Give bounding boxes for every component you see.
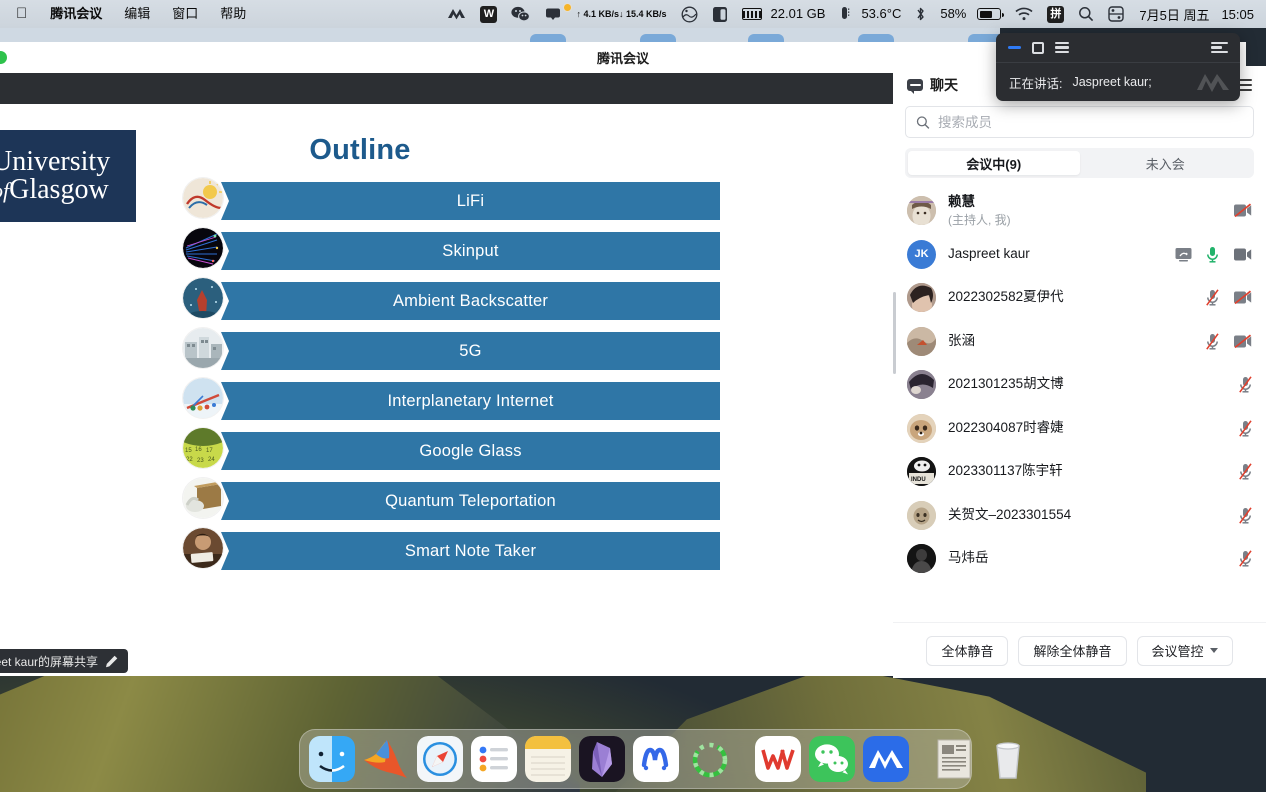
smart-note-taker-thumbnail: [183, 528, 223, 568]
notification-bell-icon[interactable]: [537, 6, 569, 22]
outline-item-label: Skinput: [221, 232, 720, 270]
participant-name: 关贺文–2023301554: [948, 507, 1071, 524]
google-glass-thumbnail: 151617222324: [183, 428, 223, 468]
speaking-name: Jaspreet kaur;: [1072, 75, 1151, 89]
floating-window-toolbar: [996, 33, 1240, 63]
interplanetary-internet-thumbnail: [183, 378, 223, 418]
list-item[interactable]: 关贺文–2023301554: [893, 494, 1266, 538]
participant-controls: [1239, 463, 1252, 480]
participant-controls: [1206, 333, 1252, 350]
tencent-meeting-icon[interactable]: [440, 7, 473, 21]
avatar: INDU: [907, 457, 936, 486]
outline-item-label: Quantum Teleportation: [221, 482, 720, 520]
svg-text:INDU: INDU: [911, 477, 926, 483]
outline-item[interactable]: 151617222324 Google Glass: [183, 432, 720, 482]
microphone-off-icon[interactable]: [1239, 507, 1252, 524]
participant-name: 2022304087时睿婕: [948, 420, 1064, 437]
memory-usage-value: 22.01 GB: [769, 0, 833, 28]
network-download-speed: ↓ 15.4 KB/s: [619, 0, 667, 28]
dock-item-finder[interactable]: [309, 736, 355, 782]
participant-controls: [1233, 203, 1252, 218]
outline-list: LiFi Skinput Ambient Backscatter 5G Inte: [183, 182, 720, 582]
menubar-time[interactable]: 15:05: [1213, 7, 1258, 22]
wechat-icon[interactable]: [504, 6, 537, 22]
outline-item[interactable]: Quantum Teleportation: [183, 482, 720, 532]
slide-title: Outline: [0, 134, 720, 167]
list-item[interactable]: 2021301235胡文博: [893, 363, 1266, 407]
participants-list[interactable]: 赖慧 (主持人, 我) JK Jaspreet kaur: [893, 186, 1266, 622]
tab-in-meeting[interactable]: 会议中(9): [908, 151, 1080, 175]
wifi-icon[interactable]: [1008, 7, 1040, 21]
avatar: [907, 544, 936, 573]
chevron-down-icon: [1210, 648, 1218, 653]
logo-line-2: Glasgow: [9, 174, 109, 205]
list-item[interactable]: 马炜岳: [893, 537, 1266, 581]
unmute-all-button[interactable]: 解除全体静音: [1018, 636, 1126, 666]
microphone-off-icon[interactable]: [1239, 420, 1252, 437]
menu-item-window[interactable]: 窗口: [161, 0, 209, 28]
list-item[interactable]: 2022304087时睿婕: [893, 407, 1266, 451]
outline-item[interactable]: Ambient Backscatter: [183, 282, 720, 332]
participant-name: 马炜岳: [948, 550, 989, 567]
avatar: [907, 501, 936, 530]
floating-speaker-window[interactable]: 正在讲话: Jaspreet kaur;: [996, 33, 1240, 101]
outline-item[interactable]: LiFi: [183, 182, 720, 232]
5g-thumbnail: [183, 328, 223, 368]
list-item[interactable]: 赖慧 (主持人, 我): [893, 189, 1266, 233]
list-item[interactable]: INDU 2023301137陈宇轩: [893, 450, 1266, 494]
participant-tabs: 会议中(9) 未入会: [905, 148, 1254, 178]
microphone-off-icon[interactable]: [1239, 376, 1252, 393]
network-upload-speed: ↑ 4.1 KB/s: [576, 0, 619, 28]
svg-text:22: 22: [186, 457, 193, 463]
list-item[interactable]: 2022302582夏伊代: [893, 276, 1266, 320]
dock-item-wps[interactable]: [755, 736, 801, 782]
apple-icon[interactable]: : [8, 0, 39, 28]
dock-item-obsidian[interactable]: [579, 736, 625, 782]
participants-panel: 聊天 会议中(9) 未入会 赖慧 (主持人, 我): [893, 66, 1266, 678]
mute-all-button[interactable]: 全体静音: [926, 636, 1008, 666]
avatar: [907, 327, 936, 356]
battery-icon[interactable]: [970, 8, 1008, 20]
participant-name: 2021301235胡文博: [948, 376, 1064, 393]
spotlight-search-icon[interactable]: [1071, 6, 1101, 22]
input-method-label: 拼: [1047, 6, 1064, 23]
outline-item-label: 5G: [221, 332, 720, 370]
svg-text:23: 23: [197, 458, 204, 464]
minimize-icon[interactable]: [1008, 46, 1021, 49]
search-icon: [916, 115, 930, 130]
screenshot-icon[interactable]: [705, 6, 735, 23]
participant-controls: [1239, 420, 1252, 437]
input-method-icon[interactable]: 拼: [1040, 6, 1071, 23]
microphone-off-icon[interactable]: [1239, 550, 1252, 567]
microphone-off-icon[interactable]: [1239, 463, 1252, 480]
svg-text:24: 24: [208, 457, 215, 463]
dock-item-documents-stack[interactable]: [931, 736, 977, 782]
svg-text:17: 17: [206, 448, 213, 454]
dock-item-reminders[interactable]: [471, 736, 517, 782]
dock: [299, 729, 972, 789]
network-speed-indicator[interactable]: ↑ 4.1 KB/s ↓ 15.4 KB/s: [569, 0, 673, 28]
ambient-backscatter-thumbnail: [183, 278, 223, 318]
memory-icon: [735, 8, 769, 20]
temperature-value: 53.6°C: [859, 0, 908, 28]
panel-footer: 全体静音 解除全体静音 会议管控: [893, 622, 1266, 678]
outline-item-label: Smart Note Taker: [221, 532, 720, 570]
outline-item-label: Ambient Backscatter: [221, 282, 720, 320]
search-input[interactable]: [938, 115, 1243, 130]
lifi-thumbnail: [183, 178, 223, 218]
screen-share-label: …spreet kaur的屏幕共享: [0, 653, 98, 670]
wps-icon[interactable]: W: [473, 6, 504, 23]
participant-controls: [1175, 246, 1252, 263]
skinput-thumbnail: [183, 228, 223, 268]
participant-controls: [1239, 376, 1252, 393]
battery-percent: 58%: [933, 0, 970, 28]
outline-item-label: LiFi: [221, 182, 720, 220]
outline-item[interactable]: Smart Note Taker: [183, 532, 720, 582]
list-item[interactable]: 张涵: [893, 320, 1266, 364]
dock-item-tencent-meeting[interactable]: [863, 736, 909, 782]
list-item[interactable]: JK Jaspreet kaur: [893, 233, 1266, 277]
control-center-icon[interactable]: [1101, 6, 1131, 22]
participant-controls: [1239, 550, 1252, 567]
participant-controls: [1206, 289, 1252, 306]
microphone-off-icon[interactable]: [1206, 289, 1219, 306]
pencil-icon[interactable]: [105, 655, 118, 668]
chat-icon: [907, 79, 923, 91]
menu-bar:  腾讯会议 编辑 窗口 帮助 W ↑ 4.1 KB/s: [0, 0, 1266, 28]
search-member-box[interactable]: [905, 106, 1254, 138]
microphone-off-icon[interactable]: [1206, 333, 1219, 350]
expand-panel-icon[interactable]: [1211, 42, 1228, 53]
camera-icon[interactable]: [1233, 247, 1252, 262]
svg-text:15: 15: [185, 448, 192, 454]
background-window-chrome: [0, 28, 1000, 42]
outline-item[interactable]: 5G: [183, 332, 720, 382]
shared-screen-slide[interactable]: University ofGlasgow Outline LiFi Skinpu…: [0, 104, 893, 634]
avatar: JK: [907, 240, 936, 269]
menubar-date[interactable]: 7月5日 周五: [1131, 5, 1213, 24]
bluetooth-icon[interactable]: [908, 6, 933, 22]
meeting-management-label: 会议管控: [1152, 641, 1204, 660]
participant-name: Jaspreet kaur: [948, 246, 1030, 263]
panel-header-title: 聊天: [930, 75, 958, 95]
participants-scrollbar[interactable]: [893, 292, 896, 374]
microphone-icon[interactable]: [1206, 246, 1219, 263]
avatar: [907, 414, 936, 443]
outline-item[interactable]: Skinput: [183, 232, 720, 282]
outline-item-label: Google Glass: [221, 432, 720, 470]
menu-item-app[interactable]: 腾讯会议: [39, 0, 113, 28]
outline-item-label: Interplanetary Internet: [221, 382, 720, 420]
tab-not-joined[interactable]: 未入会: [1080, 151, 1252, 175]
avatar: [907, 283, 936, 312]
screen-share-icon[interactable]: [1175, 247, 1192, 262]
recording-indicator-dot: [0, 51, 7, 64]
svg-text:16: 16: [195, 447, 202, 453]
outline-item[interactable]: Interplanetary Internet: [183, 382, 720, 432]
menu-item-help[interactable]: 帮助: [209, 0, 257, 28]
dock-item-loading[interactable]: [687, 736, 733, 782]
avatar: [907, 196, 936, 225]
meeting-window-title: 腾讯会议: [597, 48, 649, 67]
camera-off-icon[interactable]: [1233, 203, 1252, 218]
thermometer-icon: [832, 6, 859, 22]
dock-item-wechat[interactable]: [809, 736, 855, 782]
camera-off-icon[interactable]: [1233, 290, 1252, 305]
meeting-management-button[interactable]: 会议管控: [1137, 636, 1233, 666]
dock-item-matlab[interactable]: [363, 736, 409, 782]
display-icon[interactable]: [674, 6, 705, 23]
camera-off-icon[interactable]: [1233, 334, 1252, 349]
dock-item-trash[interactable]: [985, 736, 1031, 782]
avatar-initials: JK: [914, 248, 928, 260]
dock-item-notes[interactable]: [525, 736, 571, 782]
participant-controls: [1239, 507, 1252, 524]
menu-item-edit[interactable]: 编辑: [113, 0, 161, 28]
participant-name: 张涵: [948, 333, 975, 350]
speaking-label: 正在讲话:: [1009, 73, 1062, 92]
participant-role: (主持人, 我): [948, 211, 1011, 228]
speaking-status: 正在讲话: Jaspreet kaur;: [996, 63, 1240, 101]
list-icon[interactable]: [1055, 42, 1069, 53]
participant-name: 2023301137陈宇轩: [948, 463, 1063, 480]
participant-name: 赖慧: [948, 194, 1011, 211]
maximize-icon[interactable]: [1032, 42, 1044, 54]
dock-item-metaso[interactable]: [633, 736, 679, 782]
dock-item-safari[interactable]: [417, 736, 463, 782]
quantum-teleportation-thumbnail: [183, 478, 223, 518]
participant-name: 2022302582夏伊代: [948, 289, 1064, 306]
avatar: [907, 370, 936, 399]
screen-share-banner[interactable]: …spreet kaur的屏幕共享: [0, 649, 128, 673]
tencent-meeting-watermark-icon: [1196, 71, 1230, 93]
logo-of: of: [0, 178, 9, 203]
